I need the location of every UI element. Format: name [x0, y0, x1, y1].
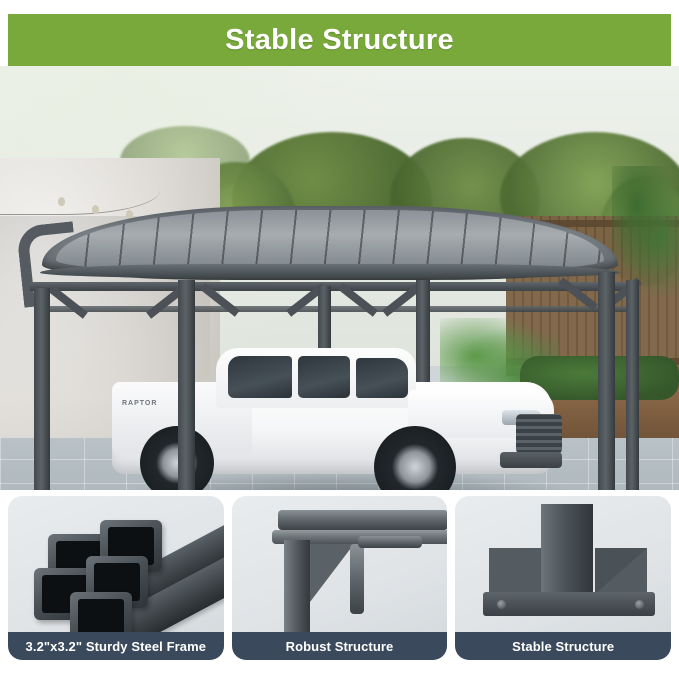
support-post: [284, 540, 310, 636]
vertical-strut: [350, 544, 364, 614]
horizontal-strut: [358, 536, 422, 548]
truck-bumper: [500, 452, 562, 468]
carport-canopy: [20, 144, 640, 274]
thumbnail-steel-frame: 3.2"x3.2" Sturdy Steel Frame: [8, 496, 224, 660]
truck-rear-window: [228, 356, 292, 398]
truck-windshield: [356, 358, 408, 398]
base-plate: [483, 592, 655, 616]
product-feature-image: Stable Structure: [0, 0, 679, 679]
truck-side-window: [298, 356, 350, 398]
support-post: [598, 272, 615, 490]
hero-photo: RAPTOR: [0, 66, 679, 490]
support-post: [34, 288, 50, 490]
support-post: [178, 280, 195, 490]
support-post: [541, 504, 593, 596]
frame-crossbeam: [40, 306, 630, 312]
corner-bracket: [310, 544, 354, 602]
thumbnail-robust-structure: Robust Structure: [232, 496, 448, 660]
base-gusset: [489, 548, 541, 594]
thumbnail-caption: 3.2"x3.2" Sturdy Steel Frame: [8, 632, 224, 660]
thumbnail-stable-structure: Stable Structure: [455, 496, 671, 660]
truck-grille: [516, 414, 562, 454]
title-banner: Stable Structure: [8, 14, 671, 66]
thumbnail-caption: Robust Structure: [232, 632, 448, 660]
truck-badge: RAPTOR: [122, 400, 157, 407]
detail-thumbnail-row: 3.2"x3.2" Sturdy Steel Frame Robust Stru…: [0, 496, 679, 668]
base-gusset: [595, 548, 647, 594]
thumbnail-caption: Stable Structure: [455, 632, 671, 660]
page-title: Stable Structure: [225, 24, 454, 57]
truck-wheel: [140, 426, 214, 490]
canopy-front-beam: [40, 264, 620, 278]
roof-beam: [278, 510, 448, 530]
support-post: [626, 280, 639, 490]
